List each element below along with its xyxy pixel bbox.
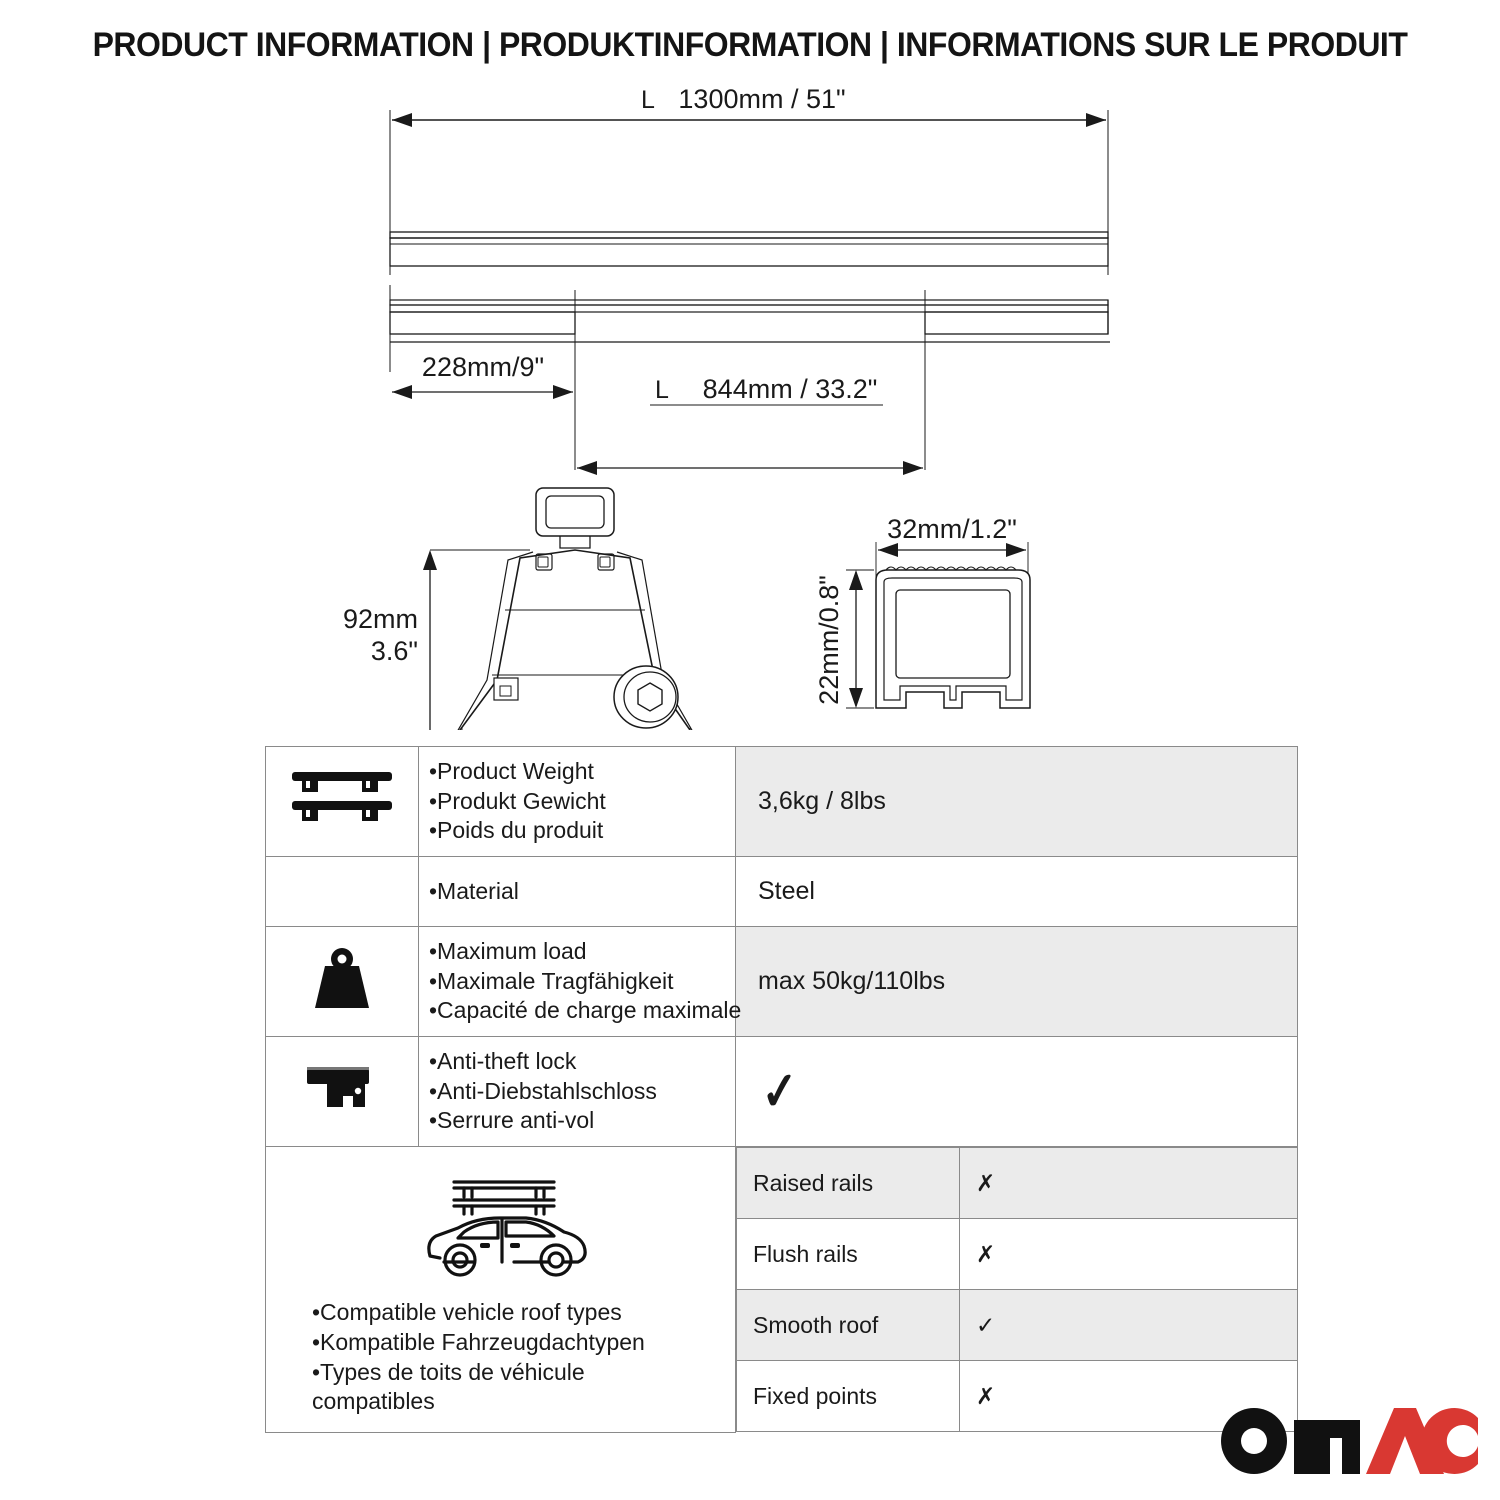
label-de: •Anti-Diebstahlschloss xyxy=(429,1077,729,1106)
material-value: Steel xyxy=(736,857,1298,927)
profile-height-value: 22mm/0.8" xyxy=(814,575,844,705)
label-en: •Compatible vehicle roof types xyxy=(312,1298,727,1328)
label-fr: •Capacité de charge maximale xyxy=(429,996,729,1025)
label-fr: •Serrure anti-vol xyxy=(429,1106,729,1135)
foot-height-value-line2: 3.6" xyxy=(371,636,418,666)
drawing-svg: L 1300mm / 51" 228mm/9" L 844mm / 33.2" … xyxy=(0,80,1500,730)
roof-type-row-flush-rails: Flush rails ✗ xyxy=(737,1219,1298,1290)
car-with-roofbars-icon xyxy=(414,1170,594,1282)
weight-icon xyxy=(307,946,377,1012)
profile-width-value: 32mm/1.2" xyxy=(887,514,1017,544)
label-de: •Kompatible Fahrzeugdachtypen xyxy=(312,1328,727,1358)
product-weight-labels: •Product Weight •Produkt Gewicht •Poids … xyxy=(419,747,736,857)
omac-logo xyxy=(1220,1402,1478,1480)
roof-type-name: Raised rails xyxy=(737,1148,960,1219)
material-icon-cell xyxy=(266,857,419,927)
table-row-maximum-load: •Maximum load •Maximale Tragfähigkeit •C… xyxy=(266,927,1298,1037)
specification-table: •Product Weight •Produkt Gewicht •Poids … xyxy=(265,746,1298,1433)
roof-type-name: Flush rails xyxy=(737,1219,960,1290)
maximum-load-value: max 50kg/110lbs xyxy=(736,927,1298,1037)
technical-drawing: L 1300mm / 51" 228mm/9" L 844mm / 33.2" … xyxy=(0,80,1500,730)
lock-bar-icon xyxy=(303,1063,381,1115)
page-title: PRODUCT INFORMATION | PRODUKTINFORMATION… xyxy=(45,26,1455,65)
label-fr: •Types de toits de véhicule xyxy=(312,1358,727,1388)
table-row-product-weight: •Product Weight •Produkt Gewicht •Poids … xyxy=(266,747,1298,857)
roof-type-row-smooth-roof: Smooth roof ✓ xyxy=(737,1290,1298,1361)
omac-logo-svg xyxy=(1220,1402,1478,1480)
weight-icon-cell xyxy=(266,927,419,1037)
compatible-roof-left-cell: •Compatible vehicle roof types •Kompatib… xyxy=(266,1147,736,1433)
roof-type-mark: ✗ xyxy=(960,1219,1298,1290)
bar-length-label: L xyxy=(641,86,655,114)
logo-letter-m-right xyxy=(1342,1420,1360,1474)
table-row-compatible-roof-types: •Compatible vehicle roof types •Kompatib… xyxy=(266,1147,1298,1433)
foot-offset-value: 228mm/9" xyxy=(422,352,544,382)
label-fr: •Poids du produit xyxy=(429,816,729,845)
span-value: 844mm / 33.2" xyxy=(703,374,878,404)
crossbars-icon xyxy=(288,768,396,830)
crossbars-icon-cell xyxy=(266,747,419,857)
label-de: •Produkt Gewicht xyxy=(429,787,729,816)
label-en: •Material xyxy=(429,877,729,906)
lock-bar-icon-cell xyxy=(266,1037,419,1147)
roof-type-mark: ✗ xyxy=(960,1148,1298,1219)
car-with-roofbars-icon-wrap xyxy=(280,1162,727,1294)
roof-types-table: Raised rails ✗ Flush rails ✗ Smooth roof… xyxy=(736,1147,1298,1432)
roof-type-mark: ✓ xyxy=(960,1290,1298,1361)
roof-type-row-raised-rails: Raised rails ✗ xyxy=(737,1148,1298,1219)
material-labels: •Material xyxy=(419,857,736,927)
label-de: •Maximale Tragfähigkeit xyxy=(429,967,729,996)
roof-type-name: Fixed points xyxy=(737,1361,960,1432)
compatible-roof-labels: •Compatible vehicle roof types •Kompatib… xyxy=(280,1294,727,1418)
bar-length-value: 1300mm / 51" xyxy=(678,84,845,114)
anti-theft-lock-labels: •Anti-theft lock •Anti-Diebstahlschloss … xyxy=(419,1037,736,1147)
label-en: •Maximum load xyxy=(429,937,729,966)
anti-theft-lock-value: ✓ xyxy=(736,1037,1298,1147)
checkmark-icon: ✓ xyxy=(760,1064,800,1119)
label-en: •Product Weight xyxy=(429,757,729,786)
roof-type-row-fixed-points: Fixed points ✗ xyxy=(737,1361,1298,1432)
label-fr-cont: compatibles xyxy=(312,1387,727,1417)
maximum-load-labels: •Maximum load •Maximale Tragfähigkeit •C… xyxy=(419,927,736,1037)
product-weight-value: 3,6kg / 8lbs xyxy=(736,747,1298,857)
table-row-material: •Material Steel xyxy=(266,857,1298,927)
foot-height-value-line1: 92mm xyxy=(343,604,418,634)
table-row-anti-theft-lock: •Anti-theft lock •Anti-Diebstahlschloss … xyxy=(266,1037,1298,1147)
span-label: L xyxy=(655,376,669,404)
logo-letter-o-hole xyxy=(1241,1428,1267,1454)
logo-letter-m-left xyxy=(1294,1420,1312,1474)
label-en: •Anti-theft lock xyxy=(429,1047,729,1076)
roof-types-subtable-cell: Raised rails ✗ Flush rails ✗ Smooth roof… xyxy=(736,1147,1298,1433)
roof-type-name: Smooth roof xyxy=(737,1290,960,1361)
